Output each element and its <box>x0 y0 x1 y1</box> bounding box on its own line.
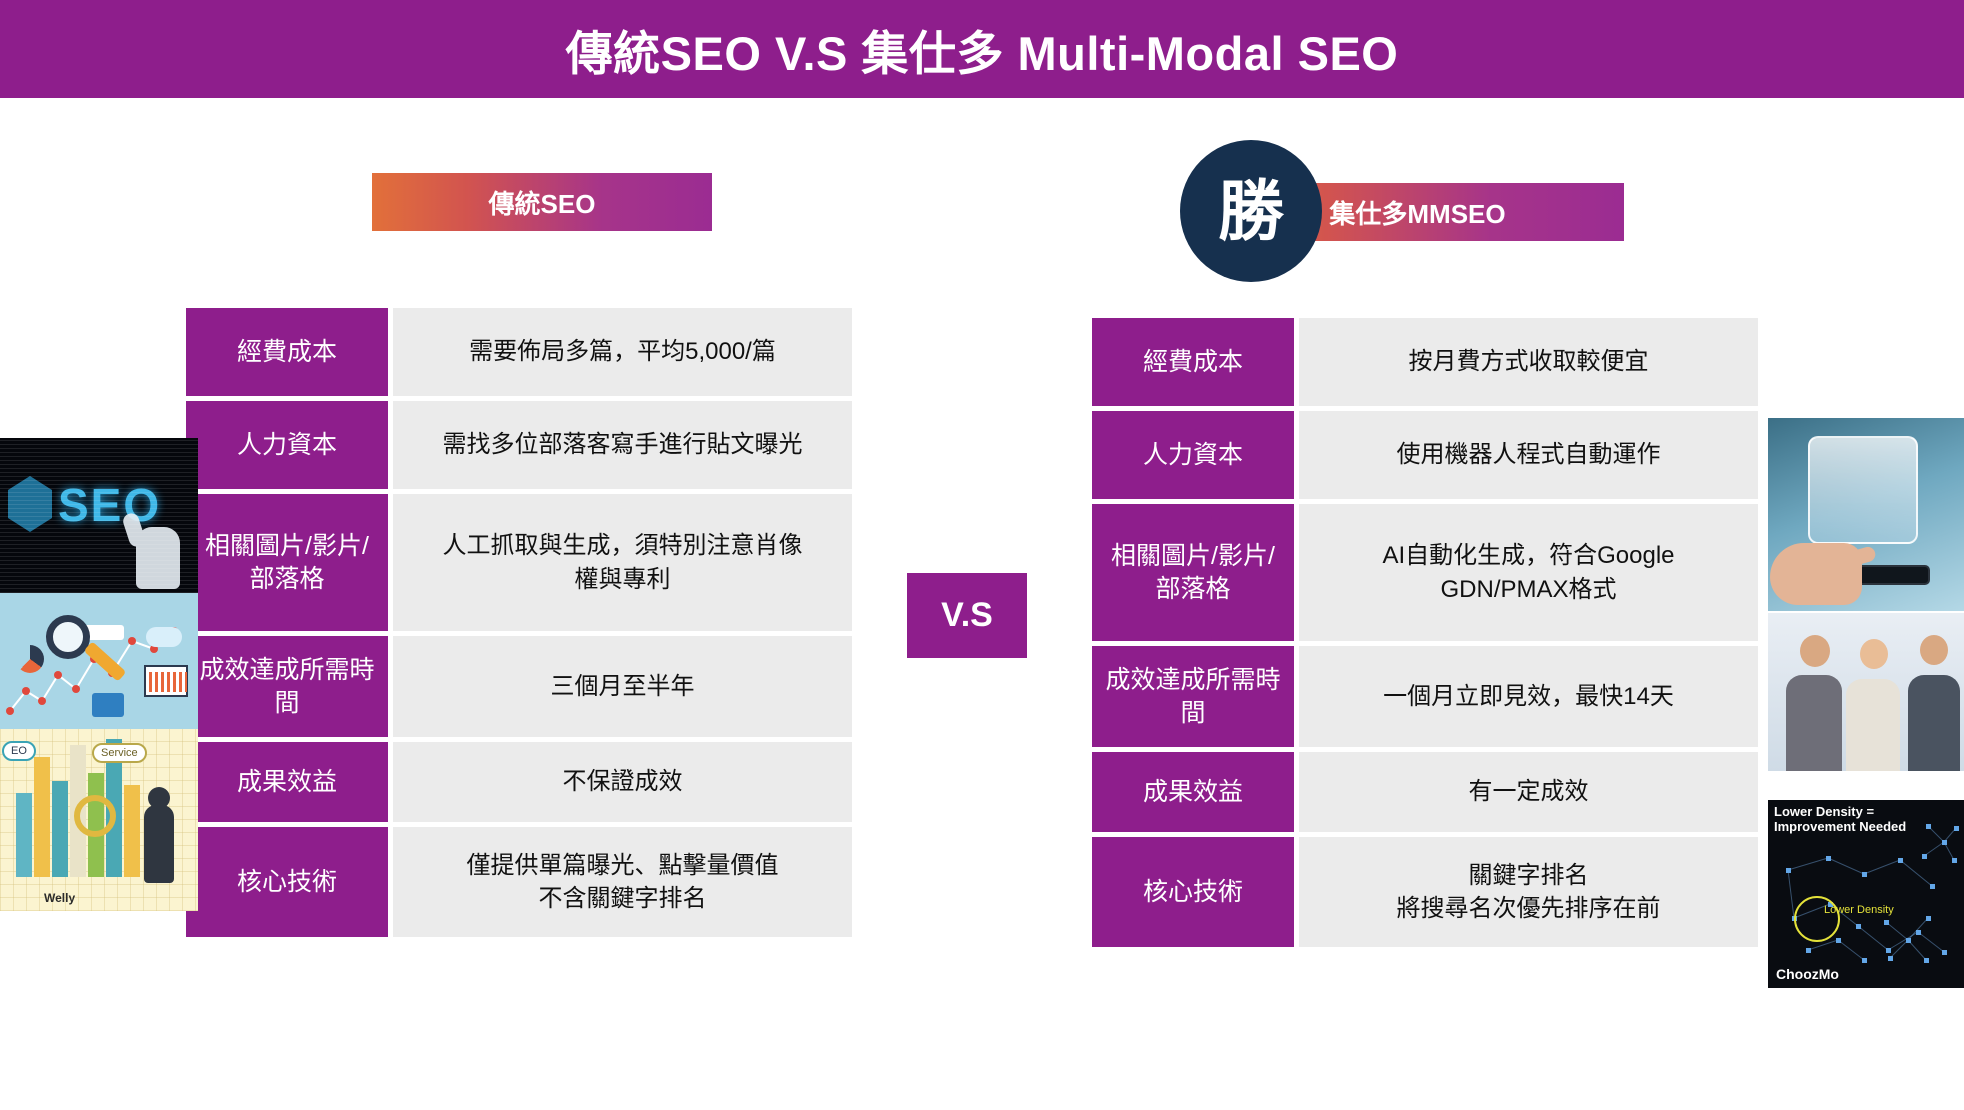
person-figure <box>144 805 174 883</box>
pie-chart-icon <box>16 645 44 673</box>
speech-bubble-eo: EO <box>2 741 36 761</box>
row-value-line: 需要佈局多篇，平均5,000/篇 <box>469 335 776 368</box>
row-label: 經費成本 <box>186 308 388 396</box>
row-value: 使用機器人程式自動運作 <box>1299 411 1758 499</box>
large-magnifier-icon <box>74 795 116 837</box>
table-row: 經費成本 需要佈局多篇，平均5,000/篇 <box>186 308 852 396</box>
row-label: 人力資本 <box>186 401 388 489</box>
row-value-line: 不含關鍵字排名 <box>467 882 779 915</box>
row-value: 人工抓取與生成，須特別注意肖像 權與專利 <box>393 494 852 631</box>
building-shape <box>124 785 140 877</box>
row-value-line: 僅提供單篇曝光、點擊量價值 <box>467 849 779 882</box>
lower-density-highlight-ring <box>1794 896 1840 942</box>
row-value-line: 關鍵字排名 <box>1397 859 1661 892</box>
lower-density-annotation: Lower Density <box>1824 904 1894 916</box>
row-value-line: 按月費方式收取較便宜 <box>1409 345 1649 378</box>
slide-canvas: 傳統SEO V.S 集仕多 Multi-Modal SEO 傳統SEO 勝 集仕… <box>0 0 1964 1110</box>
table-row: 核心技術 關鍵字排名 將搜尋名次優先排序在前 <box>1092 837 1758 947</box>
table-row: 經費成本 按月費方式收取較便宜 <box>1092 318 1758 406</box>
row-label: 核心技術 <box>1092 837 1294 947</box>
building-shape <box>16 793 32 877</box>
network-density-image: Lower Density = Improvement Needed <box>1768 800 1964 988</box>
analytics-card-graphic <box>144 665 188 697</box>
row-value-line: 人工抓取與生成，須特別注意肖像 <box>443 529 803 562</box>
row-value-line: 一個月立即見效，最快14天 <box>1383 680 1674 713</box>
bar-chart-icon <box>149 672 187 692</box>
table-row: 相關圖片/影片/部落格 人工抓取與生成，須特別注意肖像 權與專利 <box>186 494 852 631</box>
magnifier-icon <box>46 615 90 659</box>
row-value: 一個月立即見效，最快14天 <box>1299 646 1758 747</box>
row-value: 有一定成效 <box>1299 752 1758 832</box>
person-head <box>1920 635 1948 665</box>
row-value-line: 使用機器人程式自動運作 <box>1397 438 1661 471</box>
scanline-overlay <box>0 438 198 593</box>
vs-badge-label: V.S <box>941 596 993 635</box>
row-label: 成果效益 <box>186 742 388 822</box>
table-row: 人力資本 使用機器人程式自動運作 <box>1092 411 1758 499</box>
column-header-traditional-seo: 傳統SEO <box>372 173 712 231</box>
row-value: 需要佈局多篇，平均5,000/篇 <box>393 308 852 396</box>
comparison-table-traditional-seo: 經費成本 需要佈局多篇，平均5,000/篇 人力資本 需找多位部落客寫手進行貼文… <box>186 308 852 937</box>
column-header-mmseo-label: 集仕多MMSEO <box>1329 194 1505 231</box>
vs-badge: V.S <box>907 573 1027 658</box>
table-row: 成效達成所需時間 三個月至半年 <box>186 636 852 737</box>
person-head <box>1800 635 1830 667</box>
table-row: 核心技術 僅提供單篇曝光、點擊量價值 不含關鍵字排名 <box>186 827 852 937</box>
seo-screen-image: SEO <box>0 438 198 593</box>
win-badge: 勝 <box>1180 140 1322 282</box>
person-body <box>1908 675 1960 771</box>
network-graph-edges <box>1768 800 1964 988</box>
row-value: 關鍵字排名 將搜尋名次優先排序在前 <box>1299 837 1758 947</box>
row-label: 核心技術 <box>186 827 388 937</box>
row-value-line: 權與專利 <box>443 563 803 596</box>
row-value: 不保證成效 <box>393 742 852 822</box>
table-row: 成果效益 有一定成效 <box>1092 752 1758 832</box>
column-header-traditional-seo-label: 傳統SEO <box>489 184 596 221</box>
row-label: 相關圖片/影片/部落格 <box>186 494 388 631</box>
row-value: 需找多位部落客寫手進行貼文曝光 <box>393 401 852 489</box>
page-title: 傳統SEO V.S 集仕多 Multi-Modal SEO <box>566 15 1399 84</box>
row-label: 成效達成所需時間 <box>1092 646 1294 747</box>
welly-logo: Welly <box>44 891 75 905</box>
row-value: AI自動化生成，符合Google GDN/PMAX格式 <box>1299 504 1758 641</box>
row-value: 僅提供單篇曝光、點擊量價值 不含關鍵字排名 <box>393 827 852 937</box>
row-label: 人力資本 <box>1092 411 1294 499</box>
row-value-line: GDN/PMAX格式 <box>1382 573 1674 606</box>
hologram-pane <box>1808 436 1918 544</box>
row-label: 成果效益 <box>1092 752 1294 832</box>
choozmo-logo: ChoozMo <box>1776 966 1839 982</box>
comparison-table-mmseo: 經費成本 按月費方式收取較便宜 人力資本 使用機器人程式自動運作 相關圖片/影片… <box>1092 318 1758 947</box>
table-row: 人力資本 需找多位部落客寫手進行貼文曝光 <box>186 401 852 489</box>
row-value: 三個月至半年 <box>393 636 852 737</box>
folder-icon <box>92 693 124 717</box>
business-people-image <box>1768 613 1964 771</box>
row-value-line: 不保證成效 <box>563 765 683 798</box>
row-label: 相關圖片/影片/部落格 <box>1092 504 1294 641</box>
person-head <box>1860 639 1888 669</box>
speech-bubble-service: Service <box>92 743 147 763</box>
cloud-icon <box>146 627 182 647</box>
row-label: 成效達成所需時間 <box>186 636 388 737</box>
person-body <box>1846 679 1900 771</box>
person-body <box>1786 675 1842 771</box>
row-label: 經費成本 <box>1092 318 1294 406</box>
row-value-line: 有一定成效 <box>1469 775 1589 808</box>
win-badge-label: 勝 <box>1218 178 1284 244</box>
row-value-line: 三個月至半年 <box>551 670 695 703</box>
seo-flat-illustration: EO Service Welly <box>0 593 198 911</box>
table-row: 相關圖片/影片/部落格 AI自動化生成，符合Google GDN/PMAX格式 <box>1092 504 1758 641</box>
title-banner: 傳統SEO V.S 集仕多 Multi-Modal SEO <box>0 0 1964 98</box>
building-shape <box>34 757 50 877</box>
row-value: 按月費方式收取較便宜 <box>1299 318 1758 406</box>
building-shape <box>52 781 68 877</box>
table-row: 成果效益 不保證成效 <box>186 742 852 822</box>
row-value-line: AI自動化生成，符合Google <box>1382 539 1674 572</box>
row-value-line: 需找多位部落客寫手進行貼文曝光 <box>443 428 803 461</box>
row-value-line: 將搜尋名次優先排序在前 <box>1397 892 1661 925</box>
table-row: 成效達成所需時間 一個月立即見效，最快14天 <box>1092 646 1758 747</box>
holographic-phone-image <box>1768 418 1964 611</box>
